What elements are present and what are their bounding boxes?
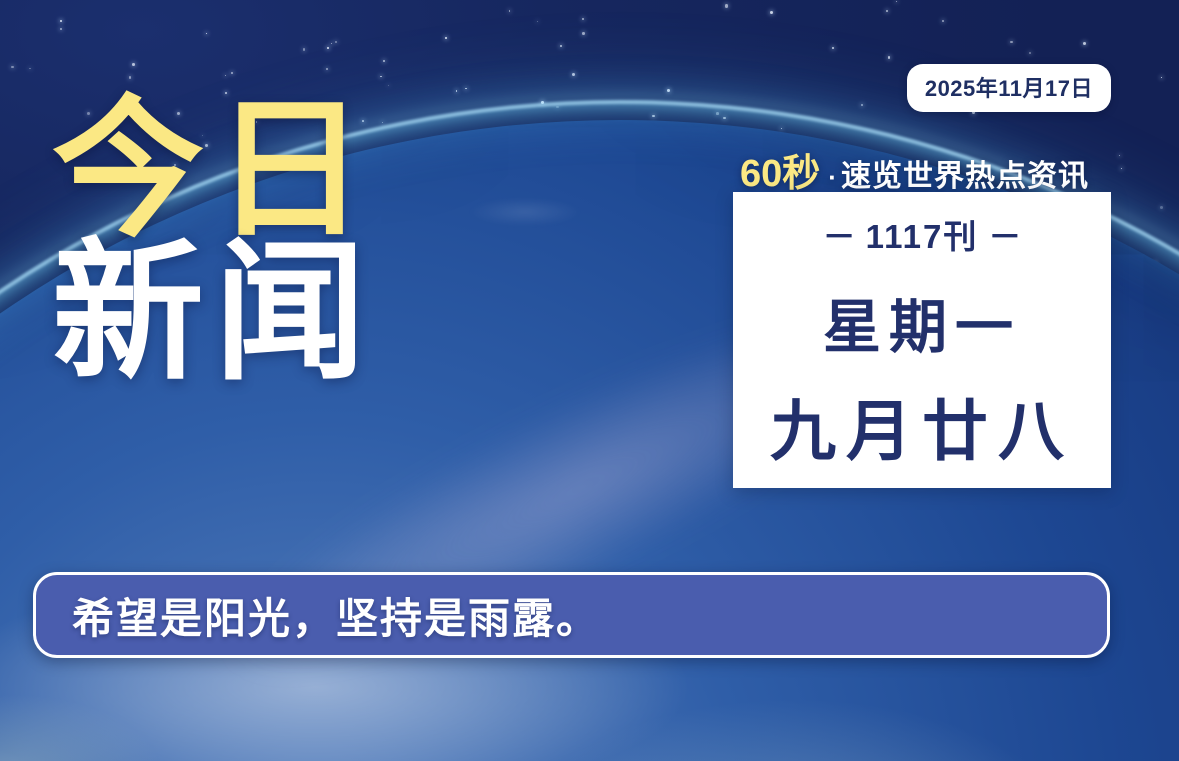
star-icon [1083,42,1086,45]
star-icon [331,43,332,44]
tagline-text: 速览世界热点资讯 [841,151,1089,195]
star-icon [11,66,14,69]
star-icon [132,63,135,66]
star-icon [456,90,457,91]
quote-bar: 希望是阳光，坚持是雨露。 [33,572,1110,658]
poster-canvas: 今日 新闻 2025年11月17日 60秒 · 速览世界热点资讯 －1117刊－… [0,0,1179,761]
star-icon [225,75,227,77]
star-icon [383,60,385,62]
star-icon [327,47,330,50]
star-icon [582,32,585,35]
date-badge: 2025年11月17日 [907,64,1111,112]
star-icon [380,76,382,78]
star-icon [861,104,863,106]
star-icon [537,21,538,22]
star-icon [1161,77,1163,79]
title-line-xinwen: 新闻 [52,239,376,388]
issue-number: 1117刊 [866,218,979,255]
lunar-date-label: 九月廿八 [770,378,1074,474]
star-icon [1160,206,1163,209]
star-icon [725,4,728,7]
star-icon [1029,52,1031,54]
star-icon [572,73,575,76]
star-icon [60,20,62,22]
star-icon [60,28,62,30]
star-icon [206,33,207,34]
star-icon [129,76,132,79]
tagline-separator: · [820,162,841,193]
star-icon [942,20,944,22]
page-title: 今日 新闻 [52,96,376,388]
star-icon [582,18,584,20]
issue-card: －1117刊－ 星期一 九月廿八 [733,192,1111,488]
star-icon [770,11,773,14]
star-icon [231,72,233,74]
star-icon [445,37,447,39]
star-icon [29,68,31,70]
star-icon [509,10,510,11]
star-icon [1121,168,1122,169]
star-icon [465,88,467,90]
star-icon [326,68,328,70]
star-icon [388,85,389,86]
tagline: 60秒 · 速览世界热点资讯 [740,142,1089,197]
star-icon [896,1,897,2]
star-icon [1119,155,1121,157]
star-icon [667,89,670,92]
star-icon [886,10,888,12]
star-icon [335,41,338,44]
weekday-label: 星期一 [823,280,1021,364]
issue-line: －1117刊－ [813,210,1032,258]
star-icon [303,48,306,51]
background-watermark [470,198,580,226]
star-icon [832,47,834,49]
quote-text: 希望是阳光，坚持是雨露。 [72,585,600,646]
star-icon [560,45,562,47]
title-line-jinri: 今日 [52,96,376,245]
star-icon [888,56,891,59]
issue-dash-right: － [978,218,1031,255]
issue-dash-left: － [813,218,866,255]
tagline-seconds: 60秒 [740,142,820,197]
star-icon [1010,41,1013,44]
